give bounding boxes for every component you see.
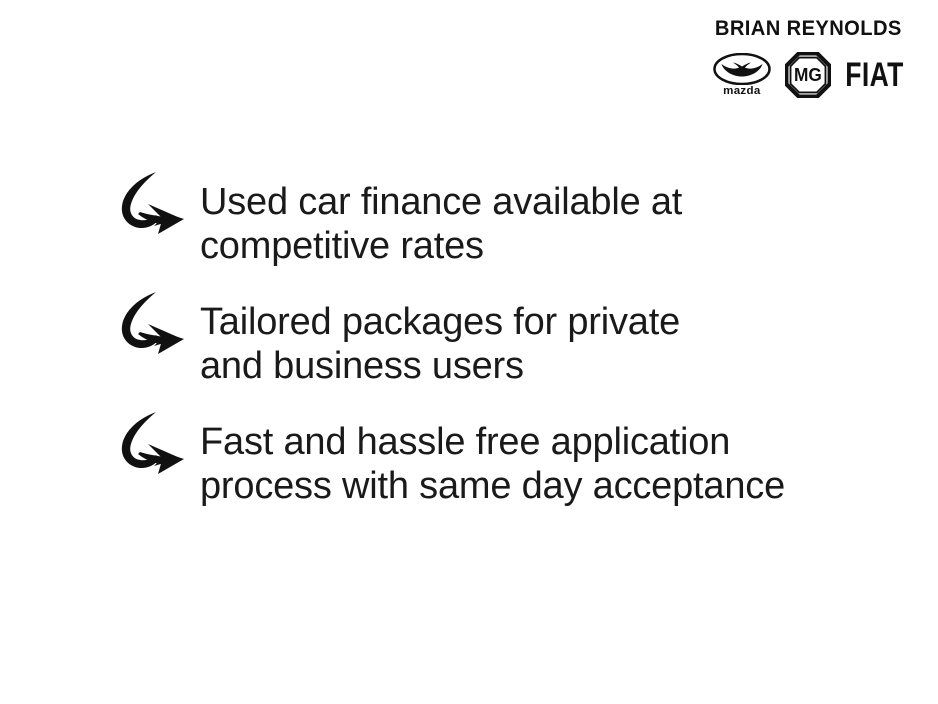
list-item-text: Fast and hassle free application process… [200,408,918,508]
list-item: Fast and hassle free application process… [118,408,918,508]
mazda-logo: mazda [713,53,771,97]
dealer-branding: BRIAN REYNOLDS mazda MG [708,18,908,100]
curved-arrow-icon [118,408,186,480]
mg-logo: MG [785,52,831,98]
list-item-text: Used car finance available at competitiv… [200,168,918,268]
curved-arrow-icon [118,288,186,360]
mazda-logo-icon [713,53,771,85]
list-item: Used car finance available at competitiv… [118,168,918,268]
dealer-name: BRIAN REYNOLDS [715,18,902,39]
fiat-logo: FIAT [845,58,903,92]
mg-logo-icon: MG [785,52,831,98]
list-item-text: Tailored packages for private and busine… [200,288,918,388]
fiat-logo-icon: FIAT [845,58,904,93]
manufacturer-logo-row: mazda MG FIAT [713,50,903,100]
svg-text:MG: MG [794,65,822,86]
benefits-list: Used car finance available at competitiv… [118,168,918,528]
curved-arrow-icon [118,168,186,240]
slide-canvas: BRIAN REYNOLDS mazda MG [0,0,938,704]
mazda-wordmark: mazda [723,86,761,97]
list-item: Tailored packages for private and busine… [118,288,918,388]
